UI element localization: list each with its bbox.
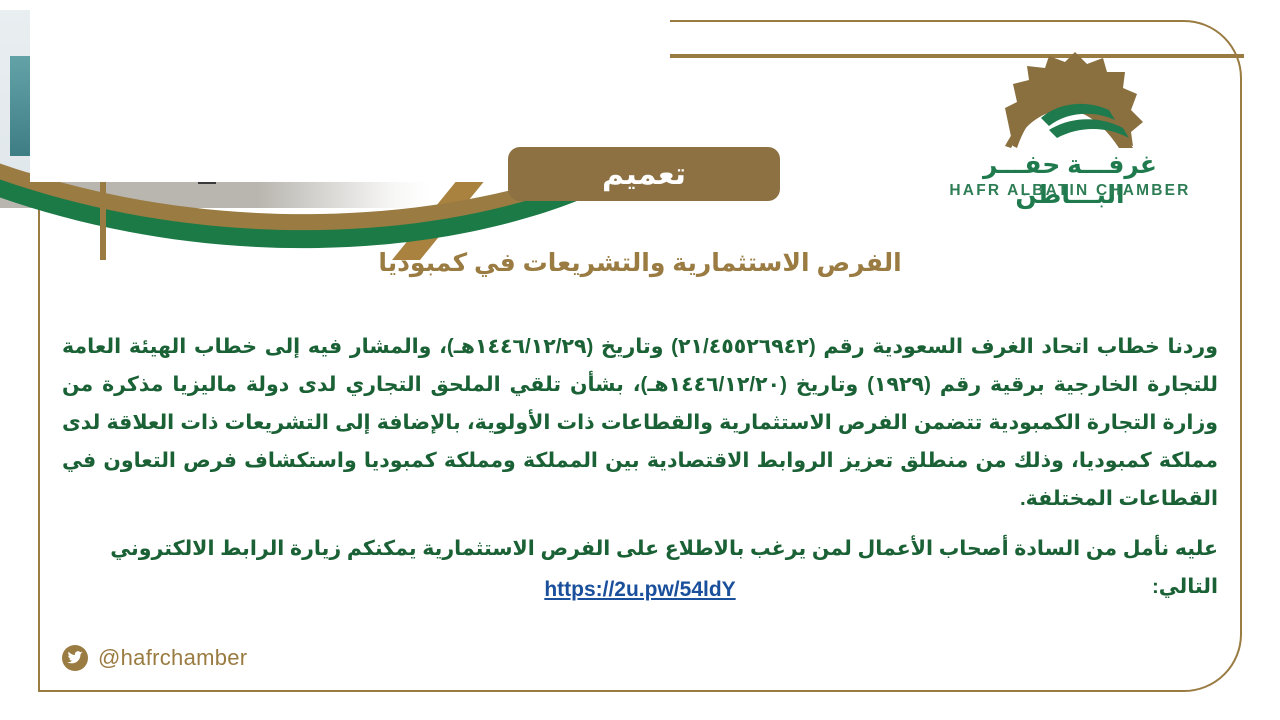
- circular-badge: تعميم: [508, 147, 780, 201]
- announcement-body: وردنا خطاب اتحاد الغرف السعودية رقم (٢١/…: [62, 328, 1218, 606]
- badge-label: تعميم: [602, 157, 686, 192]
- chamber-logo: غرفـــة حفـــر البـــاطن HAFR ALBATIN CH…: [935, 46, 1205, 206]
- chamber-logo-mark: [983, 46, 1161, 158]
- page-title: الفرص الاستثمارية والتشريعات في كمبوديا: [60, 248, 1220, 278]
- announcement-page: تعميم غرفـــة حفـــر البـــاطن HAFR ALBA…: [0, 0, 1280, 720]
- twitter-footer[interactable]: @hafrchamber: [62, 645, 247, 671]
- logo-arabic-name: غرفـــة حفـــر البـــاطن: [935, 150, 1205, 210]
- link-row: https://2u.pw/54ldY: [62, 578, 1218, 602]
- investment-opportunities-link[interactable]: https://2u.pw/54ldY: [544, 578, 735, 602]
- chamber-building-photo: [0, 10, 430, 208]
- body-paragraph-1: وردنا خطاب اتحاد الغرف السعودية رقم (٢١/…: [62, 328, 1218, 518]
- twitter-bird-icon: [62, 645, 88, 671]
- twitter-handle: @hafrchamber: [98, 645, 247, 671]
- logo-english-name: HAFR ALBATIN CHAMBER: [935, 182, 1205, 200]
